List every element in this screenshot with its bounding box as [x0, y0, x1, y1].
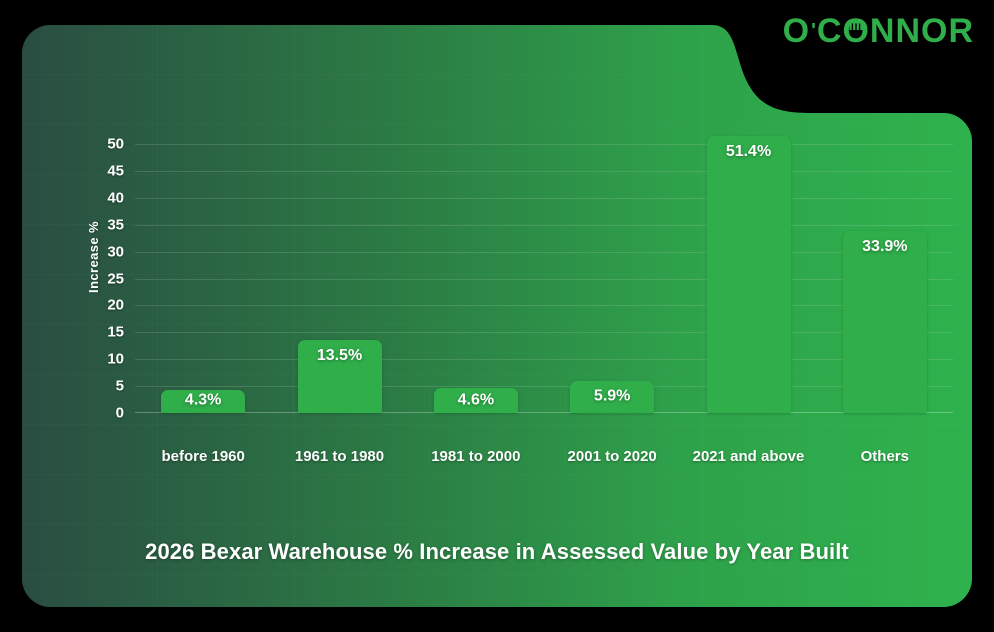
x-axis-category-label: 1961 to 1980: [271, 448, 407, 465]
oconnor-logo: O ' C O NNOR: [783, 14, 974, 48]
y-axis-tick-label: 35: [107, 216, 124, 233]
x-axis-category-label: before 1960: [135, 448, 271, 465]
y-axis-tick-label: 45: [107, 162, 124, 179]
card-content: Increase % 051015202530354045504.3%13.5%…: [22, 25, 972, 607]
gridline: [135, 198, 953, 199]
y-axis-title: Increase %: [86, 221, 106, 293]
bar[interactable]: 4.3%: [161, 390, 245, 413]
plot-area: 051015202530354045504.3%13.5%4.6%5.9%51.…: [135, 144, 953, 413]
logo-letters-nnor: NNOR: [870, 14, 974, 48]
chart-card: Increase % 051015202530354045504.3%13.5%…: [22, 25, 972, 607]
bar[interactable]: 33.9%: [843, 231, 927, 413]
bar-value-label: 5.9%: [570, 388, 654, 406]
bar[interactable]: 4.6%: [434, 388, 518, 413]
bar-value-label: 13.5%: [298, 347, 382, 365]
x-axis-category-label: Others: [817, 448, 953, 465]
x-axis-category-label: 2021 and above: [680, 448, 816, 465]
logo-letter-o-fork: O: [842, 14, 869, 48]
bar-value-label: 51.4%: [707, 143, 791, 161]
bar-value-label: 4.3%: [161, 392, 245, 410]
gridline: [135, 332, 953, 333]
chart-infographic: O ' C O NNOR: [0, 0, 994, 632]
gridline: [135, 359, 953, 360]
gridline: [135, 279, 953, 280]
y-axis-tick-label: 40: [107, 189, 124, 206]
gridline: [135, 171, 953, 172]
y-axis-tick-label: 50: [107, 136, 124, 153]
x-axis-baseline: [135, 412, 953, 413]
logo-letter-o: O: [783, 14, 810, 48]
y-axis-tick-label: 15: [107, 324, 124, 341]
gridline: [135, 252, 953, 253]
y-axis-tick-label: 10: [107, 351, 124, 368]
gridline: [135, 305, 953, 306]
y-axis-tick-label: 20: [107, 297, 124, 314]
fork-icon: [850, 21, 863, 30]
gridline: [135, 144, 953, 145]
y-axis-tick-label: 0: [116, 405, 124, 422]
gridline: [135, 386, 953, 387]
bar-value-label: 33.9%: [843, 238, 927, 256]
x-axis-category-label: 2001 to 2020: [544, 448, 680, 465]
logo-letter-c: C: [817, 14, 843, 48]
bar-value-label: 4.6%: [434, 391, 518, 409]
y-axis-tick-label: 5: [116, 378, 124, 395]
x-axis-category-label: 1981 to 2000: [408, 448, 544, 465]
y-axis-tick-label: 30: [107, 243, 124, 260]
bar[interactable]: 5.9%: [570, 381, 654, 413]
y-axis-tick-label: 25: [107, 270, 124, 287]
gridline: [135, 225, 953, 226]
bar[interactable]: 51.4%: [707, 136, 791, 413]
chart-title: 2026 Bexar Warehouse % Increase in Asses…: [22, 539, 972, 565]
bar[interactable]: 13.5%: [298, 340, 382, 413]
